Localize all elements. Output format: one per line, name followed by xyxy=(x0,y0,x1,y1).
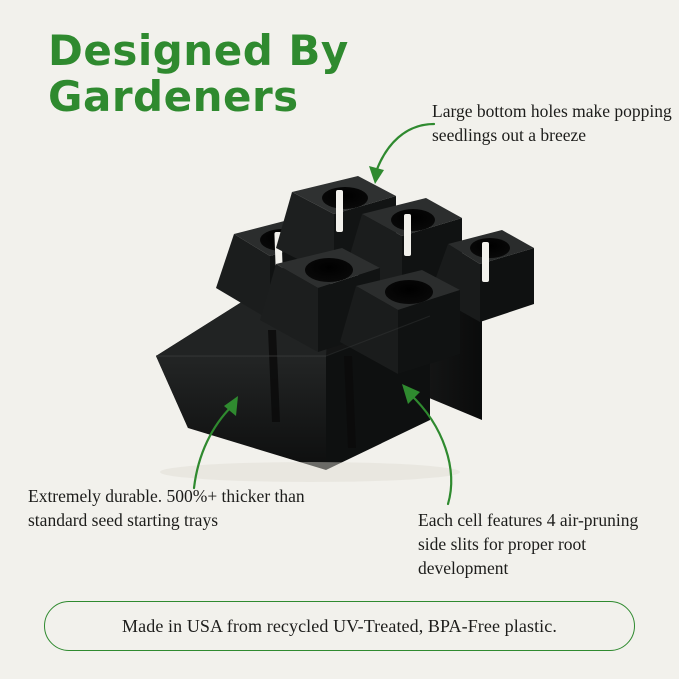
made-in-usa-badge: Made in USA from recycled UV-Treated, BP… xyxy=(44,601,635,651)
headline-line-2: Gardeners xyxy=(48,74,448,120)
product-image xyxy=(130,170,550,490)
callout-bottom-holes: Large bottom holes make popping seedling… xyxy=(432,99,672,147)
made-in-usa-badge-label: Made in USA from recycled UV-Treated, BP… xyxy=(122,616,557,637)
page-title: Designed By Gardeners xyxy=(48,28,448,120)
callout-air-pruning: Each cell features 4 air-pruning side sl… xyxy=(418,508,668,580)
promo-image: Designed By Gardeners xyxy=(0,0,679,679)
callout-durability: Extremely durable. 500%+ thicker than st… xyxy=(28,484,308,532)
headline-line-1: Designed By xyxy=(48,28,448,74)
